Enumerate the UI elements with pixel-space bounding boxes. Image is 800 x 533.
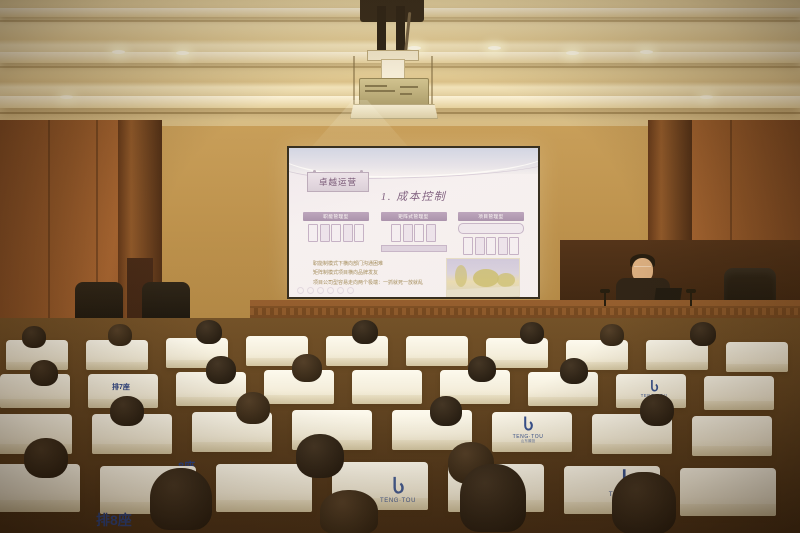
logo-cn: 山东滕投 <box>513 440 544 444</box>
audience-head <box>108 324 132 346</box>
logo-mark: Ⴑ <box>513 418 544 434</box>
seat-label: 排7座 <box>112 382 130 392</box>
audience-head <box>30 360 58 386</box>
audience-seating: Ⴑ TENG·TOU 山东滕投 排7座 Ⴑ TENG·TOU 山东滕投 8座 <box>0 318 800 533</box>
audience-head <box>292 354 322 382</box>
diagram-pill-label <box>458 223 524 234</box>
microphone <box>604 292 606 306</box>
audience-head <box>468 356 496 382</box>
diagram-arrow-bar <box>381 245 447 252</box>
ceiling <box>0 0 800 132</box>
projector-mount-arm <box>377 6 386 52</box>
chair <box>352 370 422 404</box>
audience-head <box>352 320 378 344</box>
chair <box>406 336 468 366</box>
projector-support-rod <box>431 56 433 104</box>
conference-hall-photo: 卓越运营 1. 成本控制 职能管理型 矩阵式管理型 <box>0 0 800 533</box>
audience-head-foreground <box>612 472 676 533</box>
logo-mark: Ⴑ <box>380 478 416 497</box>
slide-footer-dots <box>297 287 354 294</box>
downlight <box>112 50 125 54</box>
diagram-functional: 职能管理型 <box>303 212 369 254</box>
audience-head <box>640 394 674 426</box>
chair <box>726 342 788 372</box>
projector-tray <box>350 104 438 119</box>
audience-head <box>690 322 716 346</box>
ceiling-projector <box>359 78 429 106</box>
slide-diagram-row: 职能管理型 矩阵式管理型 项目管理型 <box>303 212 524 254</box>
audience-head <box>22 326 46 348</box>
audience-head <box>24 438 68 478</box>
audience-head <box>600 324 624 346</box>
downlight <box>60 95 73 99</box>
diagram-boxes <box>381 224 447 242</box>
audience-head <box>206 356 236 384</box>
downlight <box>176 51 189 55</box>
audience-head-foreground <box>460 464 526 532</box>
audience-head <box>110 396 144 426</box>
audience-head-foreground <box>150 468 212 530</box>
downlight <box>488 46 501 50</box>
logo-name: TENG·TOU <box>380 498 416 504</box>
slide-bullet: 职能制模式下横向部门沟通困难 <box>313 260 431 269</box>
audience-head <box>296 434 344 478</box>
chair-logo: Ⴑ TENG·TOU <box>380 478 416 504</box>
chair <box>216 464 312 512</box>
slide-bullet-list: 职能制模式下横向部门沟通困难 矩阵制模式项目横向品牌发友 项目公司型容易走向两个… <box>313 260 431 288</box>
microphone <box>690 292 692 306</box>
slide-title: 1. 成本控制 <box>289 188 538 204</box>
audience-head <box>196 320 222 344</box>
projector-mount-arm <box>396 6 405 52</box>
audience-head <box>520 322 544 344</box>
slide-bullet: 矩阵制模式项目横向品牌发友 <box>313 269 431 278</box>
chair-logo: Ⴑ TENG·TOU 山东滕投 <box>513 418 544 444</box>
chair <box>704 376 774 410</box>
slide-surface: 卓越运营 1. 成本控制 职能管理型 矩阵式管理型 <box>289 148 538 297</box>
audience-head <box>236 392 270 424</box>
logo-mark: Ⴑ <box>641 380 668 393</box>
presenter-glasses <box>634 266 651 271</box>
podium-molding <box>250 308 800 315</box>
podium-top-edge <box>250 300 800 306</box>
chair <box>680 468 776 516</box>
audience-head <box>430 396 462 426</box>
audience-head <box>560 358 588 384</box>
diagram-project: 项目管理型 <box>458 212 524 254</box>
downlight <box>700 95 713 99</box>
diagram-boxes <box>458 237 524 255</box>
projection-screen: 卓越运营 1. 成本控制 职能管理型 矩阵式管理型 <box>287 146 540 299</box>
seat-label: 排8座 <box>96 510 132 530</box>
diagram-matrix: 矩阵式管理型 <box>381 212 447 254</box>
downlight <box>640 50 653 54</box>
chair <box>692 416 772 456</box>
downlight <box>566 51 579 55</box>
projector-support-rod <box>353 56 355 104</box>
diagram-header: 矩阵式管理型 <box>381 212 447 221</box>
slide-landscape-thumbnail <box>446 258 520 297</box>
projector-ceiling-recess <box>360 0 424 22</box>
diagram-header: 项目管理型 <box>458 212 524 221</box>
diagram-boxes <box>303 224 369 242</box>
diagram-header: 职能管理型 <box>303 212 369 221</box>
audience-head-foreground <box>320 490 378 533</box>
